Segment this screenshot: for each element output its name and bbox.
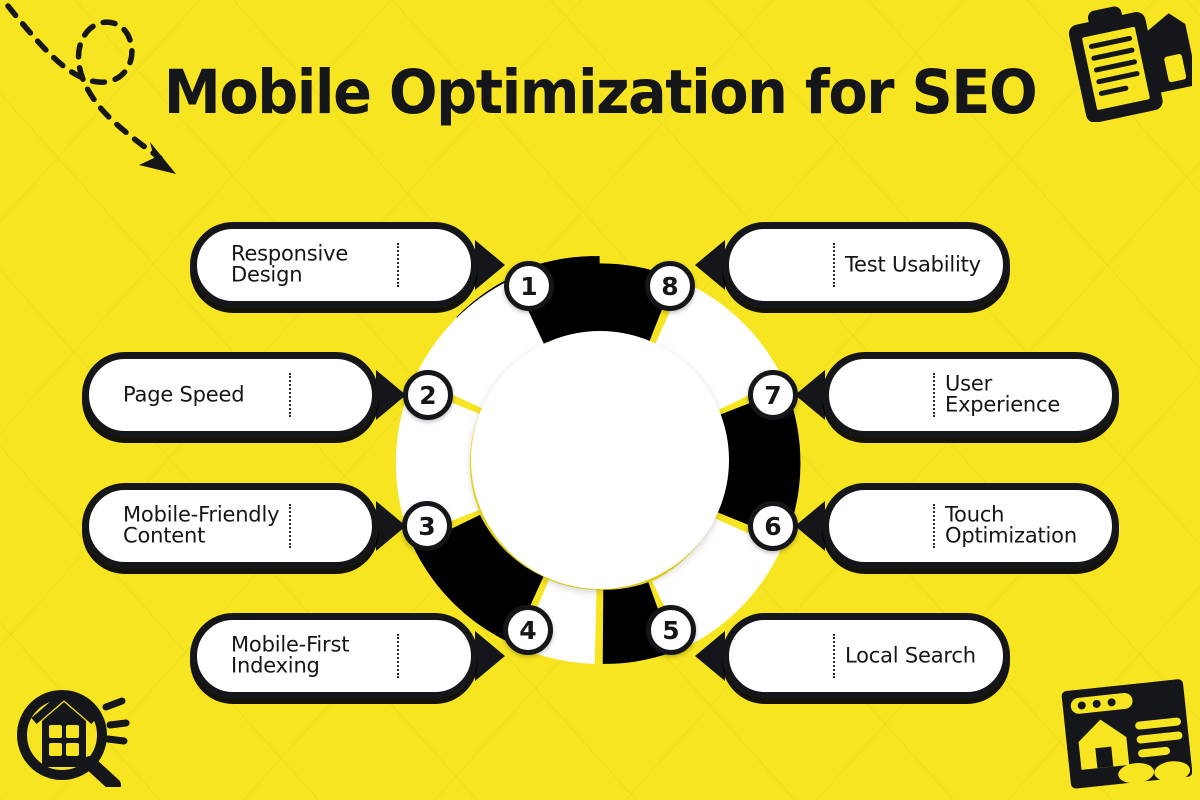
- step-bubble-mobile-first-indexing[interactable]: Mobile-First Indexing: [190, 613, 478, 699]
- bubble-body: Responsive Design: [190, 222, 478, 308]
- step-bubble-responsive-design[interactable]: Responsive Design: [190, 222, 478, 308]
- step-bubble-page-speed[interactable]: Page Speed: [82, 352, 379, 438]
- bubble-body: Page Speed: [82, 352, 379, 438]
- step-bubble-test-usability[interactable]: Test Usability: [722, 222, 1010, 308]
- bubble-tail: [475, 631, 505, 681]
- bubble-divider: [833, 243, 835, 287]
- step-number-6[interactable]: 6: [748, 501, 798, 551]
- browser-listing-icon: [1060, 679, 1192, 794]
- step-number-1[interactable]: 1: [504, 261, 554, 311]
- step-label-2: Page Speed: [123, 384, 244, 405]
- bubble-tail: [795, 501, 825, 551]
- bubble-divider: [289, 373, 291, 417]
- step-number-3[interactable]: 3: [402, 501, 452, 551]
- step-label-3: Mobile-Friendly Content: [123, 505, 279, 548]
- bubble-divider: [289, 504, 291, 548]
- bubble-divider: [933, 373, 935, 417]
- bubble-body: Mobile-Friendly Content: [82, 483, 379, 569]
- bubble-divider: [397, 634, 399, 678]
- step-number-2[interactable]: 2: [403, 370, 453, 420]
- step-bubble-mobile-friendly-content[interactable]: Mobile-Friendly Content: [82, 483, 379, 569]
- bubble-body: Touch Optimization: [822, 483, 1119, 569]
- bubble-divider: [397, 243, 399, 287]
- bubble-tail: [695, 631, 725, 681]
- bubble-body: Local Search: [722, 613, 1010, 699]
- donut-diagram: [396, 256, 804, 664]
- step-label-5: Local Search: [845, 645, 976, 666]
- step-label-7: User Experience: [945, 374, 1112, 417]
- bubble-tail: [695, 240, 725, 290]
- infographic-canvas: Mobile Optimization for SEO: [0, 0, 1200, 800]
- bubble-tail: [795, 370, 825, 420]
- step-label-6: Touch Optimization: [945, 505, 1077, 548]
- bubble-body: Mobile-First Indexing: [190, 613, 478, 699]
- bubble-divider: [933, 504, 935, 548]
- seg-1: [536, 300, 661, 313]
- page-title: Mobile Optimization for SEO: [36, 62, 1164, 123]
- step-label-1: Responsive Design: [231, 244, 348, 287]
- step-number-8[interactable]: 8: [645, 261, 695, 311]
- step-bubble-user-experience[interactable]: User Experience: [822, 352, 1119, 438]
- bubble-tail: [376, 370, 406, 420]
- step-number-4[interactable]: 4: [503, 605, 553, 655]
- bubble-body: User Experience: [822, 352, 1119, 438]
- step-bubble-local-search[interactable]: Local Search: [722, 613, 1010, 699]
- bubble-body: Test Usability: [722, 222, 1010, 308]
- bubble-divider: [833, 634, 835, 678]
- donut-center: [471, 331, 729, 589]
- step-number-7[interactable]: 7: [748, 370, 798, 420]
- step-label-4: Mobile-First Indexing: [231, 635, 349, 678]
- step-number-5[interactable]: 5: [646, 605, 696, 655]
- step-label-8: Test Usability: [845, 254, 981, 275]
- bubble-tail: [475, 240, 505, 290]
- magnifier-house-icon: [10, 677, 130, 792]
- step-bubble-touch-optimization[interactable]: Touch Optimization: [822, 483, 1119, 569]
